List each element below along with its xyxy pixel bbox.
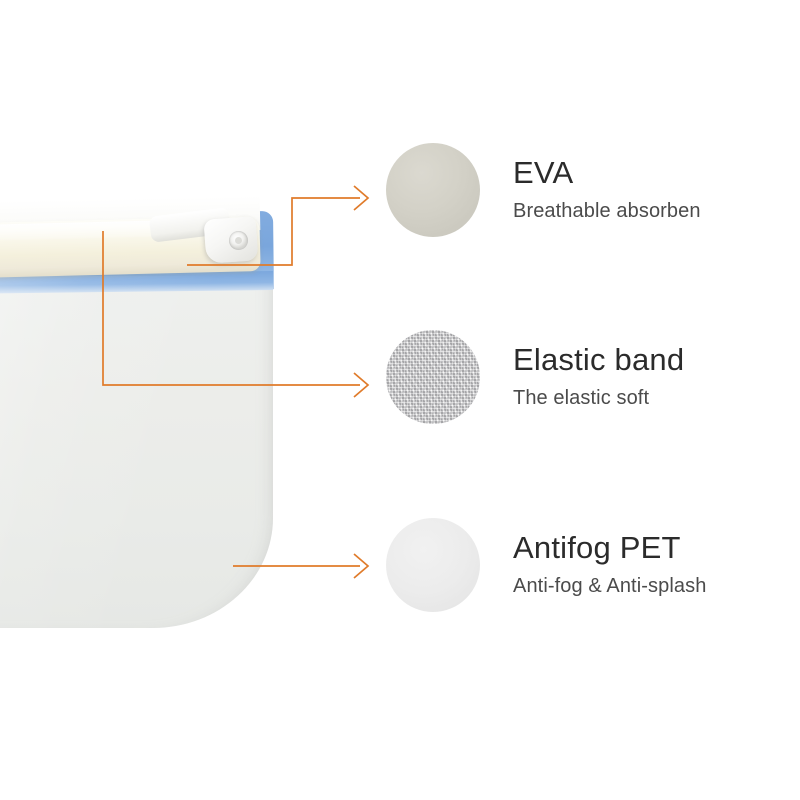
product-feature-infographic: EVA Breathable absorben Elastic band The…: [0, 0, 800, 800]
weave-layer-diagonal: [386, 330, 480, 424]
callout-eva: EVA Breathable absorben: [513, 156, 701, 223]
callout-elastic-title: Elastic band: [513, 343, 684, 377]
callout-pet-title: Antifog PET: [513, 531, 706, 565]
callout-pet: Antifog PET Anti-fog & Anti-splash: [513, 531, 706, 598]
swatch-eva-foam: [386, 143, 480, 237]
product-photo-face-shield: [0, 0, 300, 700]
callout-eva-subtitle: Breathable absorben: [513, 199, 701, 223]
strap-clip-grommet: [229, 231, 248, 250]
arrowhead-elastic: [354, 373, 368, 397]
visor-panel: [0, 276, 273, 628]
callout-pet-subtitle: Anti-fog & Anti-splash: [513, 574, 706, 598]
arrowhead-eva: [354, 186, 368, 210]
swatch-antifog-pet: [386, 518, 480, 612]
callout-elastic-subtitle: The elastic soft: [513, 386, 684, 410]
callout-eva-title: EVA: [513, 156, 701, 190]
callout-elastic: Elastic band The elastic soft: [513, 343, 684, 410]
arrowhead-pet: [354, 554, 368, 578]
swatch-elastic-band: [386, 330, 480, 424]
